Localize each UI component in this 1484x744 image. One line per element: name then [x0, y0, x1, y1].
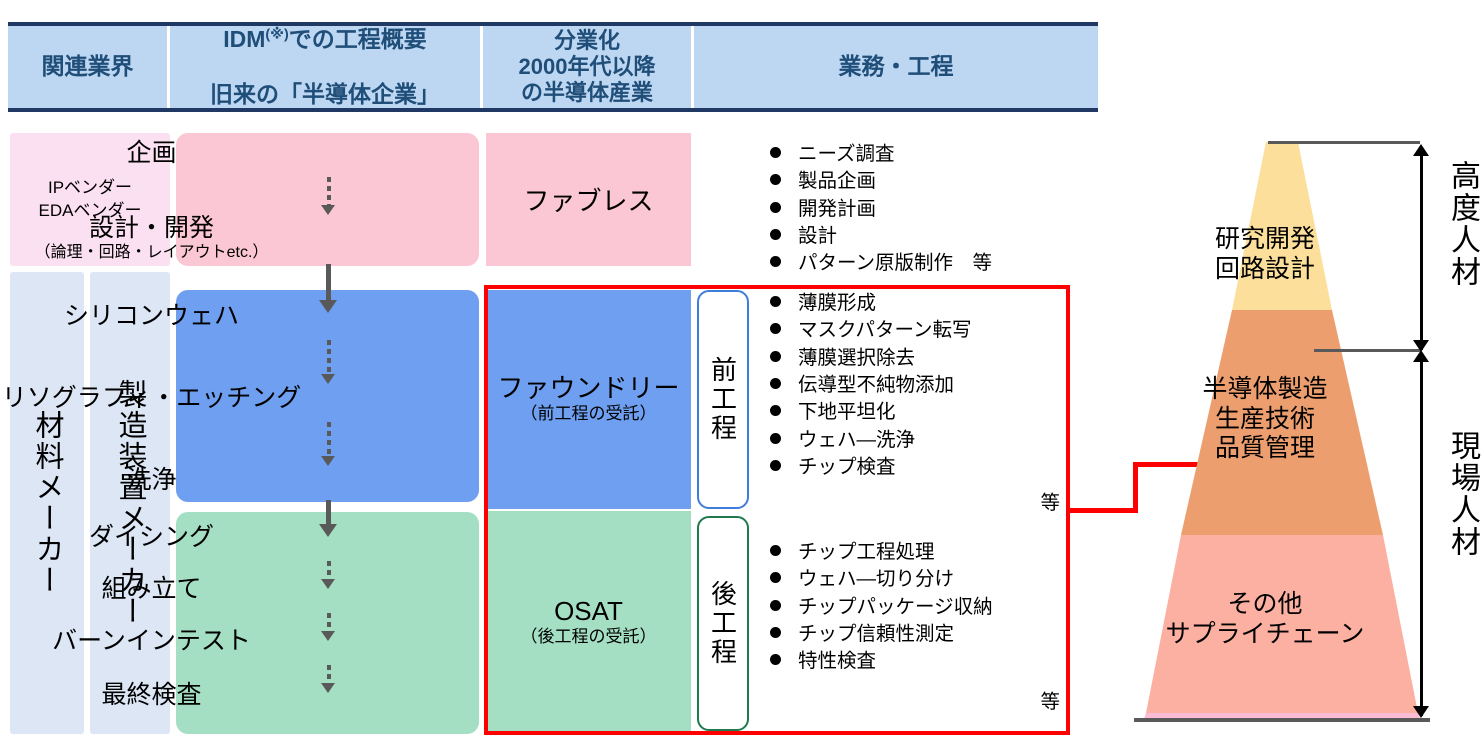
list-item-label: チップ検査 — [798, 455, 896, 480]
idm-step-dicing: ダイシング — [0, 524, 303, 552]
bullet-dot-icon — [770, 229, 781, 240]
list-item: 薄膜選択除去 — [770, 346, 1060, 371]
bullet-dot-icon — [770, 545, 781, 556]
material-maker-label: 材料メーカー — [10, 272, 84, 734]
foundry-sublabel: （前工程の受託） — [521, 403, 657, 425]
arrowhead-burnin-to-final-icon — [321, 683, 335, 693]
idm-step-dicing-label: ダイシング — [0, 524, 303, 552]
front-process-label: 前工程 — [699, 292, 747, 507]
bullet-dot-icon — [770, 296, 781, 307]
list-item-label: 薄膜形成 — [798, 291, 876, 316]
bracket-field-arrow-up-icon — [1413, 350, 1429, 362]
list-item: チップパッケージ収納 — [770, 595, 1060, 620]
talent-pyramid: 研究開発 回路設計 半導体製造 生産技術 品質管理 その他 サプライチェーン 高… — [1100, 130, 1484, 740]
idm-step-design: 設計・開発 （論理・回路・レイアウトetc.） — [0, 215, 303, 262]
list-item-label: パターン原版制作 等 — [798, 251, 992, 276]
idm-step-design-sublabel: （論理・回路・レイアウトetc.） — [0, 243, 303, 262]
header-idm-pre: IDM — [223, 26, 265, 52]
bracket-advanced-talent-line — [1420, 152, 1423, 350]
osat-box: OSAT （後工程の受託） — [486, 511, 691, 734]
list-item: 下地平坦化 — [770, 400, 1060, 425]
header-idm-process: IDM(※)での工程概要 旧来の「半導体企業」 — [170, 26, 483, 108]
bracket-advanced-talent-label: 高度人材 — [1440, 160, 1484, 288]
arrowhead-clean-to-dicing-icon — [319, 524, 337, 537]
list-item-label: 特性検査 — [798, 649, 876, 674]
foundry-box: ファウンドリー （前工程の受託） — [486, 290, 691, 509]
header-band: 関連業界 IDM(※)での工程概要 旧来の「半導体企業」 分業化 2000年代以… — [8, 22, 1098, 112]
bullet-dot-icon — [770, 460, 781, 471]
bullet-dot-icon — [770, 323, 781, 334]
arrowhead-assembly-to-burnin-icon — [321, 631, 335, 641]
header-idm-superscript: (※) — [265, 27, 288, 43]
idm-step-design-label: 設計・開発 — [0, 215, 303, 243]
osat-label: OSAT — [554, 597, 623, 627]
idm-step-cleaning-label: 洗浄 — [0, 467, 303, 495]
bullet-dot-icon — [770, 202, 781, 213]
idm-step-burn-in-test: バーンインテスト — [0, 628, 303, 656]
bullet-dot-icon — [770, 174, 781, 185]
list-item: 特性検査 — [770, 649, 1060, 674]
list-item: 設計 — [770, 224, 992, 249]
list-item: 伝導型不純物添加 — [770, 373, 1060, 398]
bullet-dot-icon — [770, 572, 781, 583]
pyramid-mid-guide-line — [1314, 349, 1420, 352]
diagram-canvas: 関連業界 IDM(※)での工程概要 旧来の「半導体企業」 分業化 2000年代以… — [0, 0, 1484, 744]
arrowhead-planning-to-design-icon — [321, 205, 335, 215]
connector-wafer-to-litho — [327, 340, 331, 378]
list-item: 製品企画 — [770, 169, 992, 194]
arrowhead-design-to-wafer-icon — [319, 300, 337, 313]
list-item: ウェハ―洗浄 — [770, 428, 1060, 453]
header-idm-line1: IDM(※)での工程概要 — [210, 26, 440, 53]
connector-litho-to-clean — [327, 422, 331, 460]
idm-step-planning-label: 企画 — [0, 140, 303, 168]
foundry-label: ファウンドリー — [497, 374, 679, 404]
list-item-label: ニーズ調査 — [798, 142, 895, 167]
header-related-industry: 関連業界 — [8, 26, 170, 108]
bullet-dot-icon — [770, 256, 781, 267]
idm-step-litho-etching: リソグラフィ・エッチング — [0, 385, 303, 413]
bracket-field-talent-label: 現場人材 — [1440, 430, 1484, 558]
idm-step-cleaning: 洗浄 — [0, 467, 303, 495]
list-item: 開発計画 — [770, 197, 992, 222]
bracket-advanced-arrow-up-icon — [1413, 144, 1429, 156]
list-item-label: チップ工程処理 — [798, 540, 935, 565]
material-maker-box: 材料メーカー — [10, 272, 84, 734]
list-item-label: チップ信頼性測定 — [798, 622, 954, 647]
back-process-label: 後工程 — [699, 518, 747, 729]
idm-step-burn-in-test-label: バーンインテスト — [0, 628, 303, 656]
idm-step-planning: 企画 — [0, 140, 303, 168]
header-idm-line2: 旧来の「半導体企業」 — [210, 81, 440, 108]
arrowhead-dicing-to-assembly-icon — [321, 579, 335, 589]
pyramid-base-line — [1134, 718, 1430, 722]
idm-step-silicon-wafer-label: シリコンウェハ — [0, 303, 303, 331]
pyramid-bottom-label: その他 サプライチェーン — [1100, 590, 1430, 649]
idm-step-final-inspection: 最終検査 — [0, 682, 303, 710]
fabless-label: ファブレス — [523, 181, 653, 218]
back-process-pill: 後工程 — [697, 516, 749, 731]
bullet-dot-icon — [770, 600, 781, 611]
header-related-industry-label: 関連業界 — [42, 53, 134, 80]
front-process-pill: 前工程 — [697, 290, 749, 509]
list-item: チップ工程処理 — [770, 540, 1060, 565]
pyramid-top-guide-line — [1268, 141, 1420, 144]
bullet-dot-icon — [770, 654, 781, 665]
header-tasks-label: 業務・工程 — [839, 53, 954, 80]
pyramid-top-label: 研究開発 回路設計 — [1100, 225, 1430, 284]
arrowhead-litho-to-clean-icon — [321, 456, 335, 466]
osat-sublabel: （後工程の受託） — [521, 626, 657, 648]
fabless-box: ファブレス — [486, 133, 691, 266]
bullet-dot-icon — [770, 433, 781, 444]
list-item: ウェハ―切り分け — [770, 567, 1060, 592]
list-item-label: 製品企画 — [798, 169, 876, 194]
list-item: チップ検査 — [770, 455, 1060, 480]
front-end-task-list: 薄膜形成 マスクパターン転写 薄膜選択除去 伝導型不純物添加 下地平坦化 ウェハ… — [770, 291, 1060, 515]
back-end-task-list: チップ工程処理 ウェハ―切り分け チップパッケージ収納 チップ信頼性測定 特性検… — [770, 540, 1060, 714]
idm-step-litho-etching-label: リソグラフィ・エッチング — [0, 385, 303, 413]
list-item-label: 伝導型不純物添加 — [798, 373, 954, 398]
front-end-etc-label: 等 — [770, 486, 1060, 515]
back-end-etc-label: 等 — [770, 685, 1060, 714]
bullet-dot-icon — [770, 405, 781, 416]
list-item-label: 薄膜選択除去 — [798, 346, 915, 371]
idm-step-assembly-label: 組み立て — [0, 576, 303, 604]
design-task-list: ニーズ調査 製品企画 開発計画 設計 パターン原版制作 等 — [770, 142, 992, 279]
bullet-dot-icon — [770, 378, 781, 389]
equipment-maker-label: 製造装置メーカー — [90, 272, 170, 734]
list-item: 薄膜形成 — [770, 291, 1060, 316]
idm-step-silicon-wafer: シリコンウェハ — [0, 303, 303, 331]
list-item: ニーズ調査 — [770, 142, 992, 167]
list-item-label: 下地平坦化 — [798, 400, 896, 425]
header-tasks-processes: 業務・工程 — [694, 26, 1098, 108]
idm-step-assembly: 組み立て — [0, 576, 303, 604]
list-item: マスクパターン転写 — [770, 318, 1060, 343]
list-item-label: 設計 — [798, 224, 837, 249]
bullet-dot-icon — [770, 147, 781, 158]
list-item: パターン原版制作 等 — [770, 251, 992, 276]
pyramid-middle-label: 半導体製造 生産技術 品質管理 — [1100, 375, 1430, 464]
list-item: チップ信頼性測定 — [770, 622, 1060, 647]
idm-step-final-inspection-label: 最終検査 — [0, 682, 303, 710]
bracket-field-talent-line — [1420, 358, 1423, 716]
bracket-field-arrow-down-icon — [1413, 706, 1429, 718]
list-item-label: 開発計画 — [798, 197, 876, 222]
bullet-dot-icon — [770, 351, 781, 362]
list-item-label: チップパッケージ収納 — [798, 595, 993, 620]
header-division-label: 分業化 2000年代以降 の半導体産業 — [519, 28, 656, 106]
header-division-of-labor: 分業化 2000年代以降 の半導体産業 — [483, 26, 694, 108]
bullet-dot-icon — [770, 627, 781, 638]
arrowhead-wafer-to-litho-icon — [321, 374, 335, 384]
header-idm-post: での工程概要 — [289, 26, 427, 52]
list-item-label: ウェハ―切り分け — [798, 567, 954, 592]
list-item-label: ウェハ―洗浄 — [798, 428, 915, 453]
equipment-maker-box: 製造装置メーカー — [90, 272, 170, 734]
list-item-label: マスクパターン転写 — [798, 318, 972, 343]
